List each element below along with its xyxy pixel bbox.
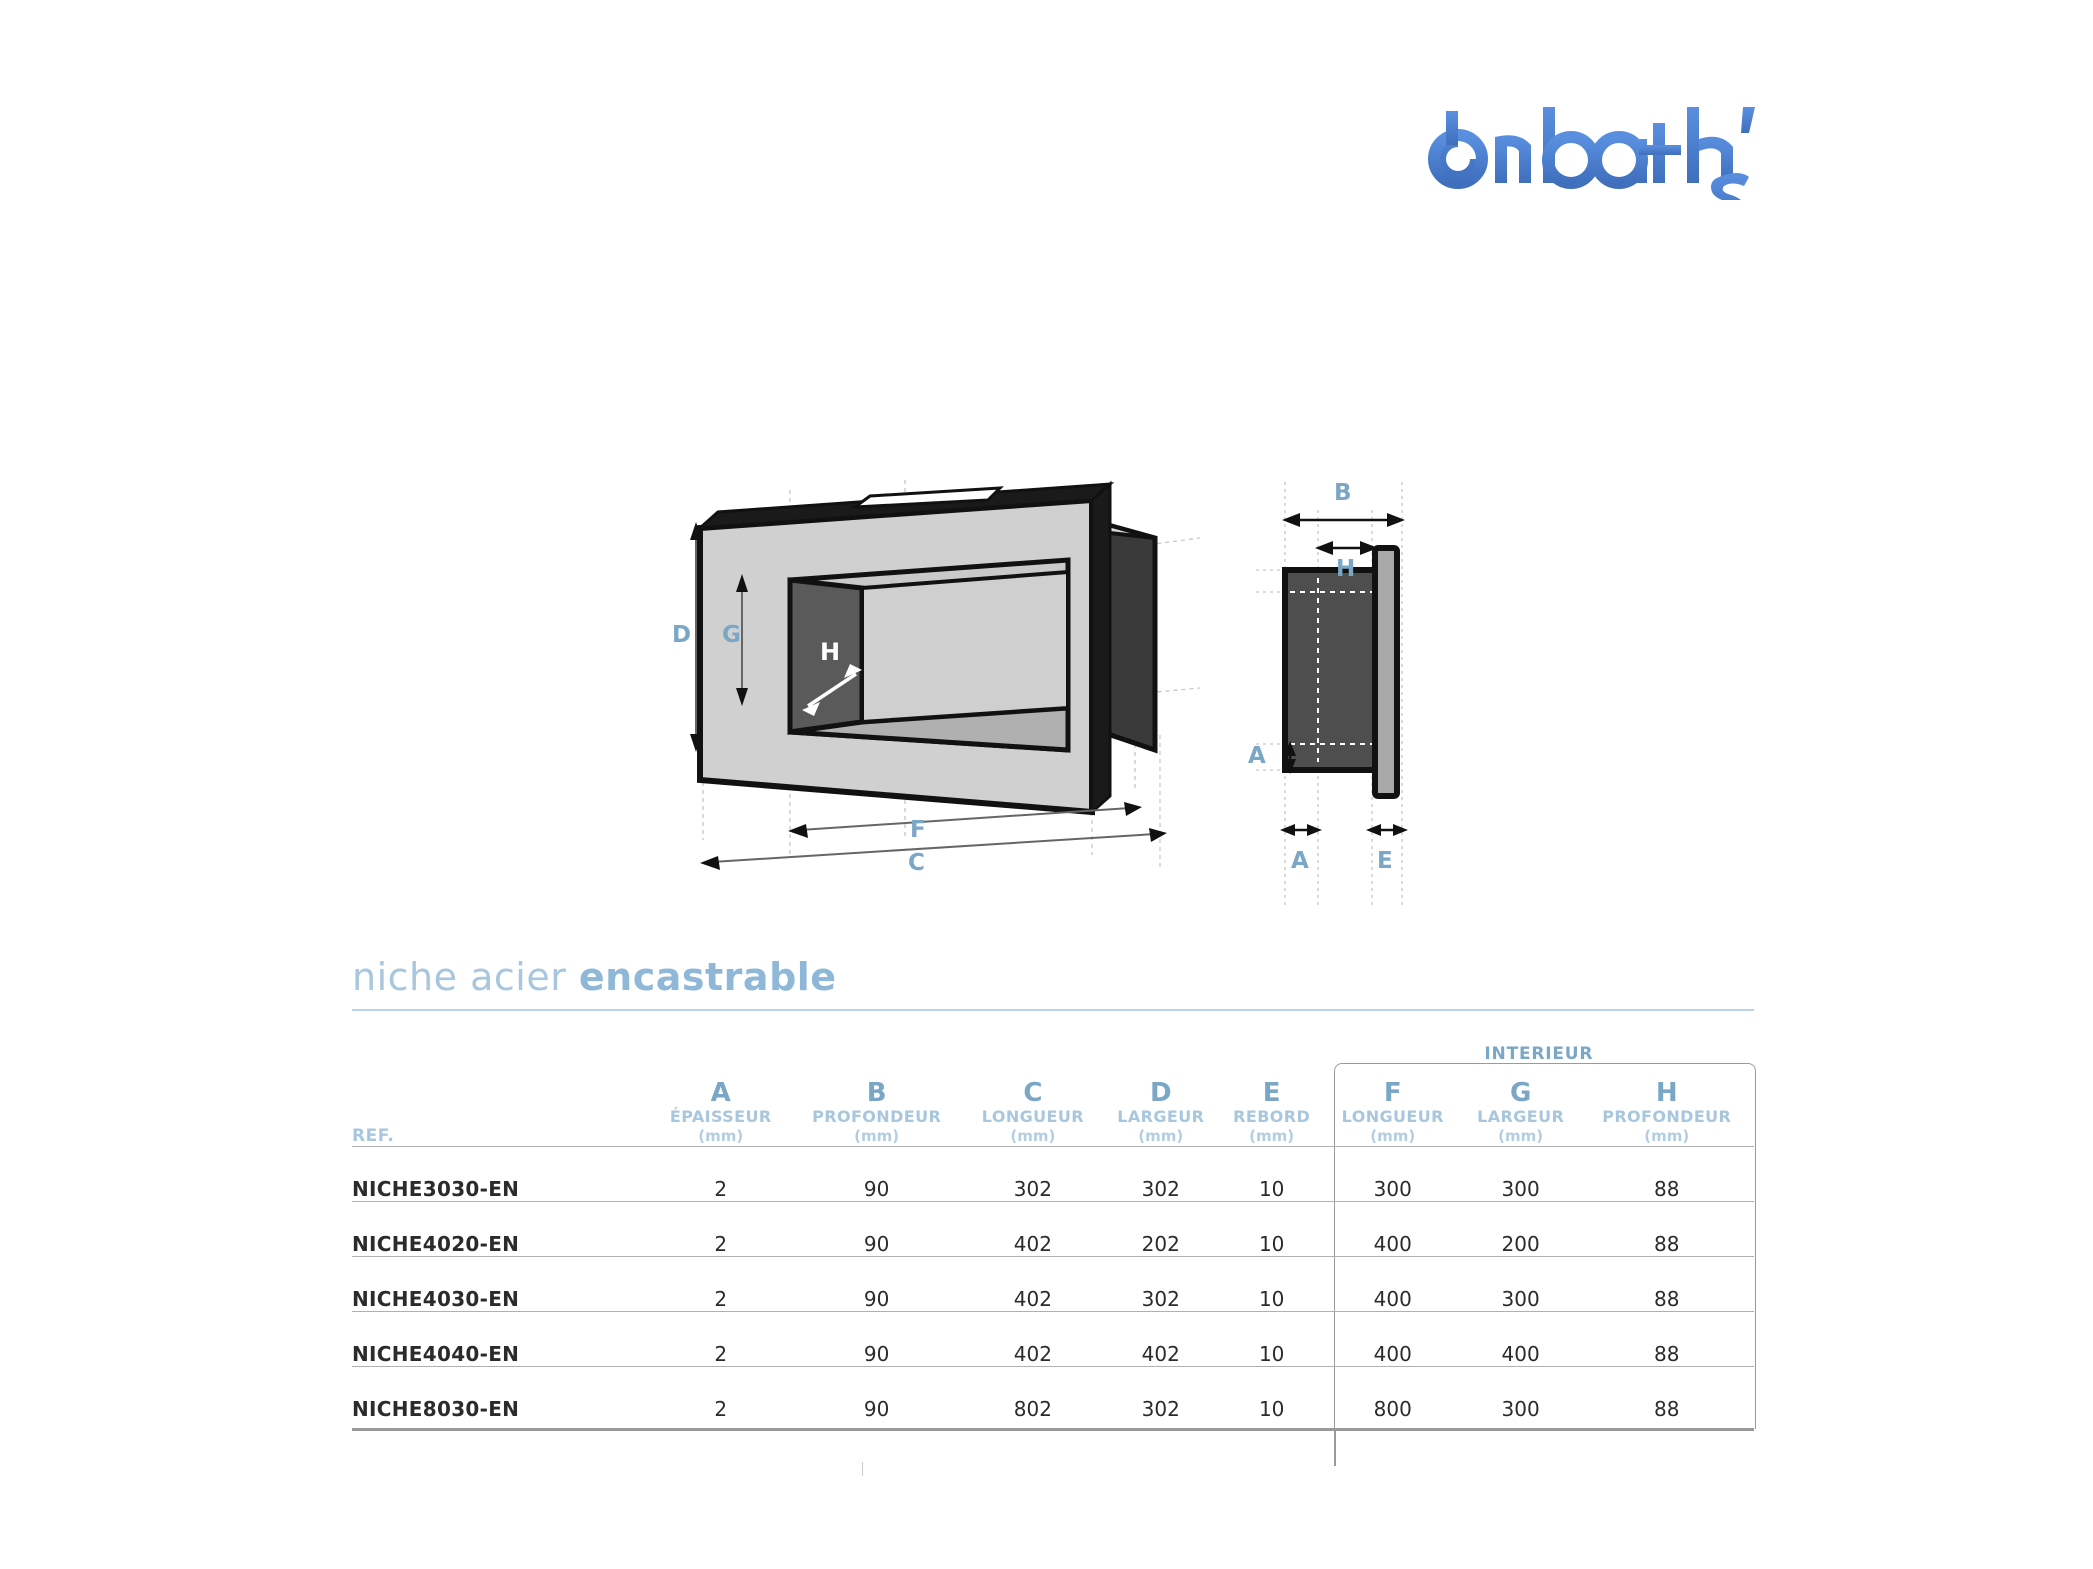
cell-ref: NICHE4030-EN [352, 1257, 652, 1312]
cell-f: 400 [1324, 1202, 1462, 1257]
cell-a: 2 [652, 1312, 789, 1367]
dim-label-f: F [910, 817, 926, 843]
group-spacer-e [1220, 1030, 1324, 1064]
header-col-d: D LARGEUR (mm) [1102, 1064, 1220, 1147]
onbaths-logo-icon [1425, 105, 1765, 200]
page-mark [862, 1462, 863, 1476]
header-name-a: ÉPAISSEUR [652, 1107, 789, 1127]
cell-b: 90 [789, 1312, 963, 1367]
header-letter-h: H [1579, 1079, 1754, 1107]
cell-ref: NICHE4020-EN [352, 1202, 652, 1257]
table-row: NICHE8030-EN 2 90 802 302 10 800 300 88 [352, 1367, 1754, 1422]
dimension-arrow-c [700, 828, 1167, 870]
cell-e: 10 [1220, 1257, 1324, 1312]
cell-f: 400 [1324, 1312, 1462, 1367]
dimension-arrow-h-side [1315, 541, 1378, 555]
title-light-part: niche acier [352, 955, 579, 999]
header-name-e: REBORD [1220, 1107, 1324, 1127]
cell-f: 800 [1324, 1367, 1462, 1422]
cell-e: 10 [1220, 1202, 1324, 1257]
dim-label-h-side: H [1336, 556, 1356, 582]
dim-label-d: D [672, 622, 692, 648]
cell-h: 88 [1579, 1202, 1754, 1257]
cell-g: 300 [1462, 1257, 1580, 1312]
niche-dimension-diagram: H [0, 460, 2093, 930]
cell-a: 2 [652, 1257, 789, 1312]
header-unit-b: (mm) [789, 1127, 963, 1146]
cell-e: 10 [1220, 1367, 1324, 1422]
header-name-g: LARGEUR [1462, 1107, 1580, 1127]
cell-a: 2 [652, 1202, 789, 1257]
header-col-c: C LONGUEUR (mm) [964, 1064, 1102, 1147]
table-row: NICHE4020-EN 2 90 402 202 10 400 200 88 [352, 1202, 1754, 1257]
header-unit-d: (mm) [1102, 1127, 1220, 1146]
cell-b: 90 [789, 1147, 963, 1202]
header-ref: REF. [352, 1064, 652, 1147]
header-ref-label: REF. [352, 1126, 652, 1146]
cell-d: 402 [1102, 1312, 1220, 1367]
header-name-f: LONGUEUR [1324, 1107, 1462, 1127]
cell-f: 400 [1324, 1257, 1462, 1312]
header-letter-f: F [1324, 1079, 1462, 1107]
cell-a: 2 [652, 1147, 789, 1202]
group-spacer-a [652, 1030, 789, 1064]
cell-c: 402 [964, 1257, 1102, 1312]
header-col-b: B PROFONDEUR (mm) [789, 1064, 963, 1147]
group-spacer-b [789, 1030, 963, 1064]
group-header-interieur: INTERIEUR [1324, 1030, 1754, 1064]
header-letter-d: D [1102, 1079, 1220, 1107]
header-unit-h: (mm) [1579, 1127, 1754, 1146]
table-bottom-border [352, 1428, 1754, 1431]
cell-d: 202 [1102, 1202, 1220, 1257]
cell-d: 302 [1102, 1367, 1220, 1422]
header-letter-a: A [652, 1079, 789, 1107]
cell-g: 400 [1462, 1312, 1580, 1367]
cell-b: 90 [789, 1257, 963, 1312]
header-col-e: E REBORD (mm) [1220, 1064, 1324, 1147]
table-row: NICHE3030-EN 2 90 302 302 10 300 300 88 [352, 1147, 1754, 1202]
dim-label-a-bottom: A [1291, 848, 1309, 874]
header-col-f: F LONGUEUR (mm) [1324, 1064, 1462, 1147]
header-letter-e: E [1220, 1079, 1324, 1107]
header-letter-c: C [964, 1079, 1102, 1107]
cell-d: 302 [1102, 1257, 1220, 1312]
cell-c: 402 [964, 1312, 1102, 1367]
cell-b: 90 [789, 1367, 963, 1422]
table-row: NICHE4040-EN 2 90 402 402 10 400 400 88 [352, 1312, 1754, 1367]
cell-ref: NICHE8030-EN [352, 1367, 652, 1422]
dim-label-b: B [1334, 480, 1352, 506]
cell-c: 402 [964, 1202, 1102, 1257]
header-col-a: A ÉPAISSEUR (mm) [652, 1064, 789, 1147]
header-unit-c: (mm) [964, 1127, 1102, 1146]
cell-e: 10 [1220, 1312, 1324, 1367]
technical-drawing: H [0, 460, 2093, 930]
header-name-d: LARGEUR [1102, 1107, 1220, 1127]
brand-logo [1425, 105, 1765, 200]
cell-g: 300 [1462, 1147, 1580, 1202]
cell-c: 802 [964, 1367, 1102, 1422]
group-spacer-ref [352, 1030, 652, 1064]
cell-f: 300 [1324, 1147, 1462, 1202]
cell-h: 88 [1579, 1257, 1754, 1312]
title-bold-part: encastrable [579, 955, 837, 999]
table-row: NICHE4030-EN 2 90 402 302 10 400 300 88 [352, 1257, 1754, 1312]
header-name-c: LONGUEUR [964, 1107, 1102, 1127]
cell-ref: NICHE3030-EN [352, 1147, 652, 1202]
cell-c: 302 [964, 1147, 1102, 1202]
table-group-row: INTERIEUR [352, 1030, 1754, 1064]
specification-table: INTERIEUR REF. A ÉPAISSEUR (mm) B PROFON… [352, 1030, 1754, 1421]
header-name-b: PROFONDEUR [789, 1107, 963, 1127]
iso-label-h: H [820, 638, 840, 666]
dim-label-g: G [722, 622, 741, 648]
cell-h: 88 [1579, 1147, 1754, 1202]
isometric-niche-view: H [690, 480, 1200, 870]
cell-h: 88 [1579, 1367, 1754, 1422]
cell-d: 302 [1102, 1147, 1220, 1202]
group-spacer-c [964, 1030, 1102, 1064]
cell-a: 2 [652, 1367, 789, 1422]
cell-b: 90 [789, 1202, 963, 1257]
page-title: niche acier encastrable [352, 955, 1754, 999]
dim-label-c: C [908, 850, 925, 876]
table-header-row: REF. A ÉPAISSEUR (mm) B PROFONDEUR (mm) … [352, 1064, 1754, 1147]
header-unit-e: (mm) [1220, 1127, 1324, 1146]
dimension-arrow-a-bottom [1280, 824, 1322, 836]
section-title-block: niche acier encastrable [352, 955, 1754, 1011]
dimension-arrow-b [1282, 513, 1405, 527]
interieur-group-bracket-tail [1334, 1428, 1336, 1466]
cell-h: 88 [1579, 1312, 1754, 1367]
dim-label-a-left: A [1248, 743, 1266, 769]
dim-label-e: E [1377, 848, 1393, 874]
header-unit-g: (mm) [1462, 1127, 1580, 1146]
header-col-h: H PROFONDEUR (mm) [1579, 1064, 1754, 1147]
cell-g: 300 [1462, 1367, 1580, 1422]
group-spacer-d [1102, 1030, 1220, 1064]
cell-e: 10 [1220, 1147, 1324, 1202]
cell-g: 200 [1462, 1202, 1580, 1257]
header-letter-g: G [1462, 1079, 1580, 1107]
header-unit-f: (mm) [1324, 1127, 1462, 1146]
header-col-g: G LARGEUR (mm) [1462, 1064, 1580, 1147]
cell-ref: NICHE4040-EN [352, 1312, 652, 1367]
header-unit-a: (mm) [652, 1127, 789, 1146]
title-divider [352, 1009, 1754, 1011]
header-letter-b: B [789, 1079, 963, 1107]
side-profile-view [1256, 482, 1408, 908]
header-name-h: PROFONDEUR [1579, 1107, 1754, 1127]
